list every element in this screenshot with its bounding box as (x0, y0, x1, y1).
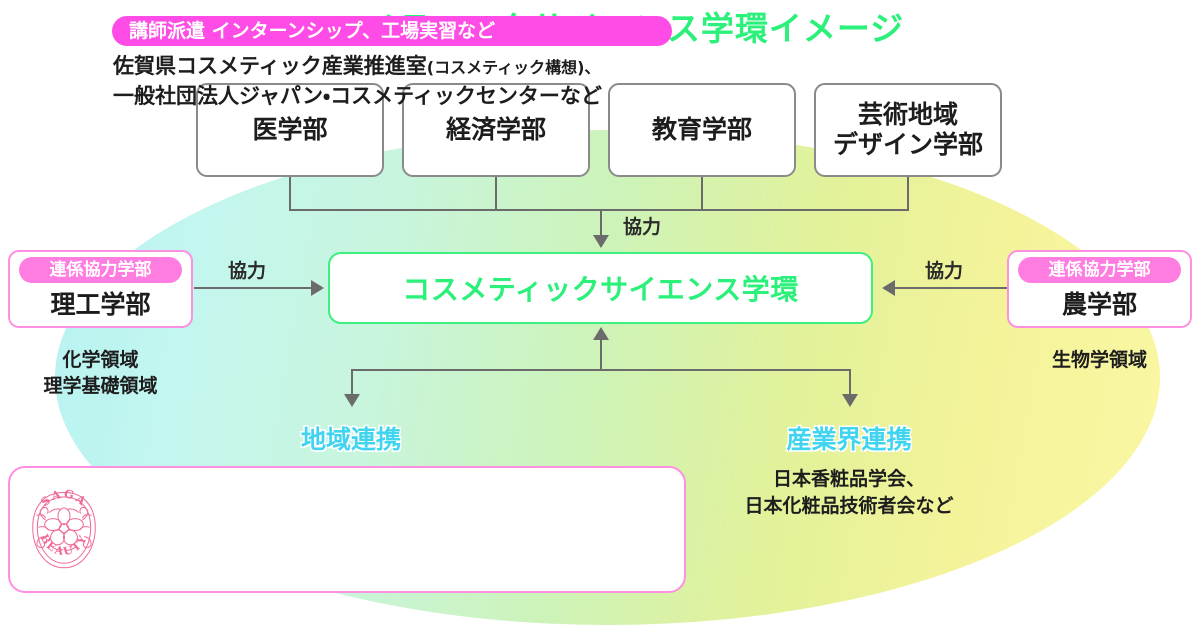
partner-card-body-line1-main: 佐賀県コスメティック産業推進室 (113, 54, 427, 78)
partner-card-body: 佐賀県コスメティック産業推進室(コスメティック構想)、 一般社団法人ジャパン・コ… (113, 52, 673, 112)
faculty-label: 経済学部 (446, 115, 546, 146)
arrowhead-right-to-hub (882, 280, 895, 296)
linkage-heading-industry: 産業界連携 (749, 420, 949, 456)
arrowhead-regional (344, 394, 360, 407)
edge-label-right-cooperation: 協力 (925, 256, 963, 283)
saga-beauty-logo-icon: SAGA BEAUTY (18, 484, 110, 578)
arrowhead-bus-to-hub (593, 235, 609, 248)
connector-bus-top (289, 209, 909, 211)
connector-right-to-hub (895, 287, 1007, 289)
hub-label: コスメティックサイエンス学環 (402, 268, 798, 308)
arrowhead-industry (842, 394, 858, 407)
connector-bus-linkage (351, 369, 851, 371)
partner-card-banner: 講師派遣 インターンシップ、工場実習など (112, 16, 672, 46)
connector-stem-economics (495, 177, 497, 211)
partner-name-label: 理工学部 (10, 285, 191, 321)
partner-box-agriculture[interactable]: 連係協力学部 農学部 (1007, 250, 1192, 328)
connector-stem-art-design (907, 177, 909, 211)
edge-label-top-cooperation: 協力 (623, 212, 661, 239)
faculty-label: 芸術地域 デザイン学部 (833, 100, 983, 161)
area-caption-left: 化学領域 理学基礎領域 (8, 348, 193, 399)
connector-hub-to-linkage-bus (600, 339, 602, 371)
partner-name-label: 農学部 (1009, 285, 1190, 321)
connector-left-to-hub (194, 287, 313, 289)
hub-box-cosmetic-science-program[interactable]: コスメティックサイエンス学環 (328, 252, 873, 324)
partner-pill-label: 連係協力学部 (19, 257, 182, 283)
partner-card-body-line1-paren: (コスメティック構想)、 (427, 58, 601, 77)
partner-card-body-line2: 一般社団法人ジャパン・コスメティックセンターなど (113, 82, 673, 112)
diagram-canvas: コスメティックサイエンス学環イメージ 医学部 経済学部 教育学部 芸術地域 デザ… (0, 0, 1200, 625)
arrowhead-left-to-hub (311, 280, 324, 296)
connector-stem-education (701, 177, 703, 211)
linkage-heading-regional: 地域連携 (251, 420, 451, 456)
faculty-label: 医学部 (252, 115, 327, 146)
connector-stem-medicine (289, 177, 291, 211)
faculty-box-art-regional-design[interactable]: 芸術地域 デザイン学部 (814, 83, 1002, 177)
partner-card-body-line1: 佐賀県コスメティック産業推進室(コスメティック構想)、 (113, 52, 673, 82)
connector-stem-industry (849, 369, 851, 396)
faculty-label: 教育学部 (652, 115, 752, 146)
connector-bus-to-hub (600, 209, 602, 237)
partner-box-science-engineering[interactable]: 連係協力学部 理工学部 (8, 250, 193, 328)
connector-stem-regional (351, 369, 353, 396)
industry-organizations-list: 日本香粧品学会、 日本化粧品技術者会など (719, 466, 979, 519)
svg-text:SAGA: SAGA (38, 486, 90, 509)
edge-label-left-cooperation: 協力 (228, 256, 266, 283)
partner-pill-label: 連係協力学部 (1018, 257, 1181, 283)
area-caption-right: 生物学領域 (1007, 348, 1192, 374)
